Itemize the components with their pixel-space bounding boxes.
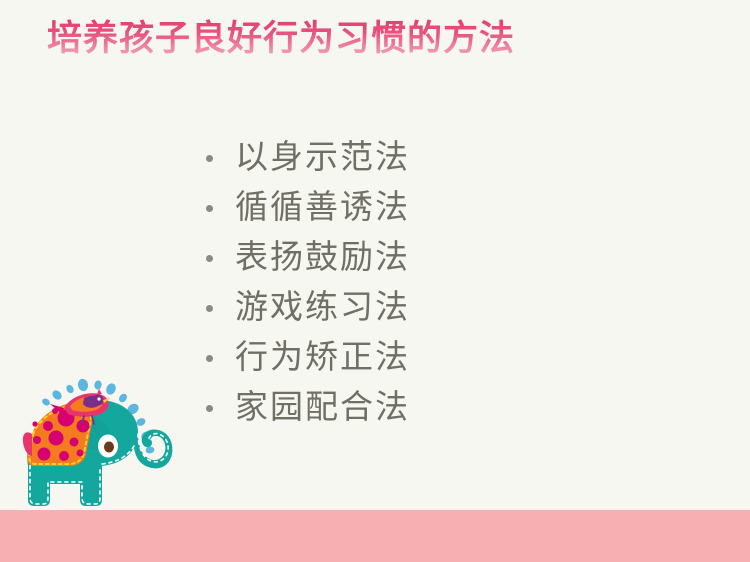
list-item-label: 以身示范法	[235, 139, 410, 177]
elephant-eye-pupil	[104, 442, 114, 453]
list-item-label: 表扬鼓励法	[235, 239, 410, 277]
list-item: 循循善诱法	[206, 183, 410, 233]
bullet-dot-icon	[206, 155, 213, 162]
method-list: 以身示范法 循循善诱法 表扬鼓励法 游戏练习法 行为矫正法 家园配合法	[206, 133, 410, 433]
bullet-dot-icon	[206, 405, 213, 412]
bullet-dot-icon	[206, 305, 213, 312]
list-item: 表扬鼓励法	[206, 233, 410, 283]
slide-canvas: 培养孩子良好行为习惯的方法 以身示范法 循循善诱法 表扬鼓励法 游戏练习法 行为…	[0, 0, 750, 562]
list-item: 行为矫正法	[206, 333, 410, 383]
list-item: 家园配合法	[206, 383, 410, 433]
bullet-dot-icon	[206, 205, 213, 212]
list-item-label: 家园配合法	[235, 389, 410, 427]
blanket-fold	[23, 432, 32, 456]
bullet-dot-icon	[206, 255, 213, 262]
bullet-dot-icon	[206, 355, 213, 362]
list-item-label: 循循善诱法	[235, 189, 410, 227]
bird-eye	[97, 397, 100, 400]
bird-crest	[97, 389, 102, 394]
elephant-with-bird-illustration	[10, 368, 200, 528]
list-item: 游戏练习法	[206, 283, 410, 333]
list-item: 以身示范法	[206, 133, 410, 183]
page-title: 培养孩子良好行为习惯的方法	[47, 17, 667, 61]
list-item-label: 游戏练习法	[235, 289, 410, 327]
list-item-label: 行为矫正法	[235, 339, 410, 377]
